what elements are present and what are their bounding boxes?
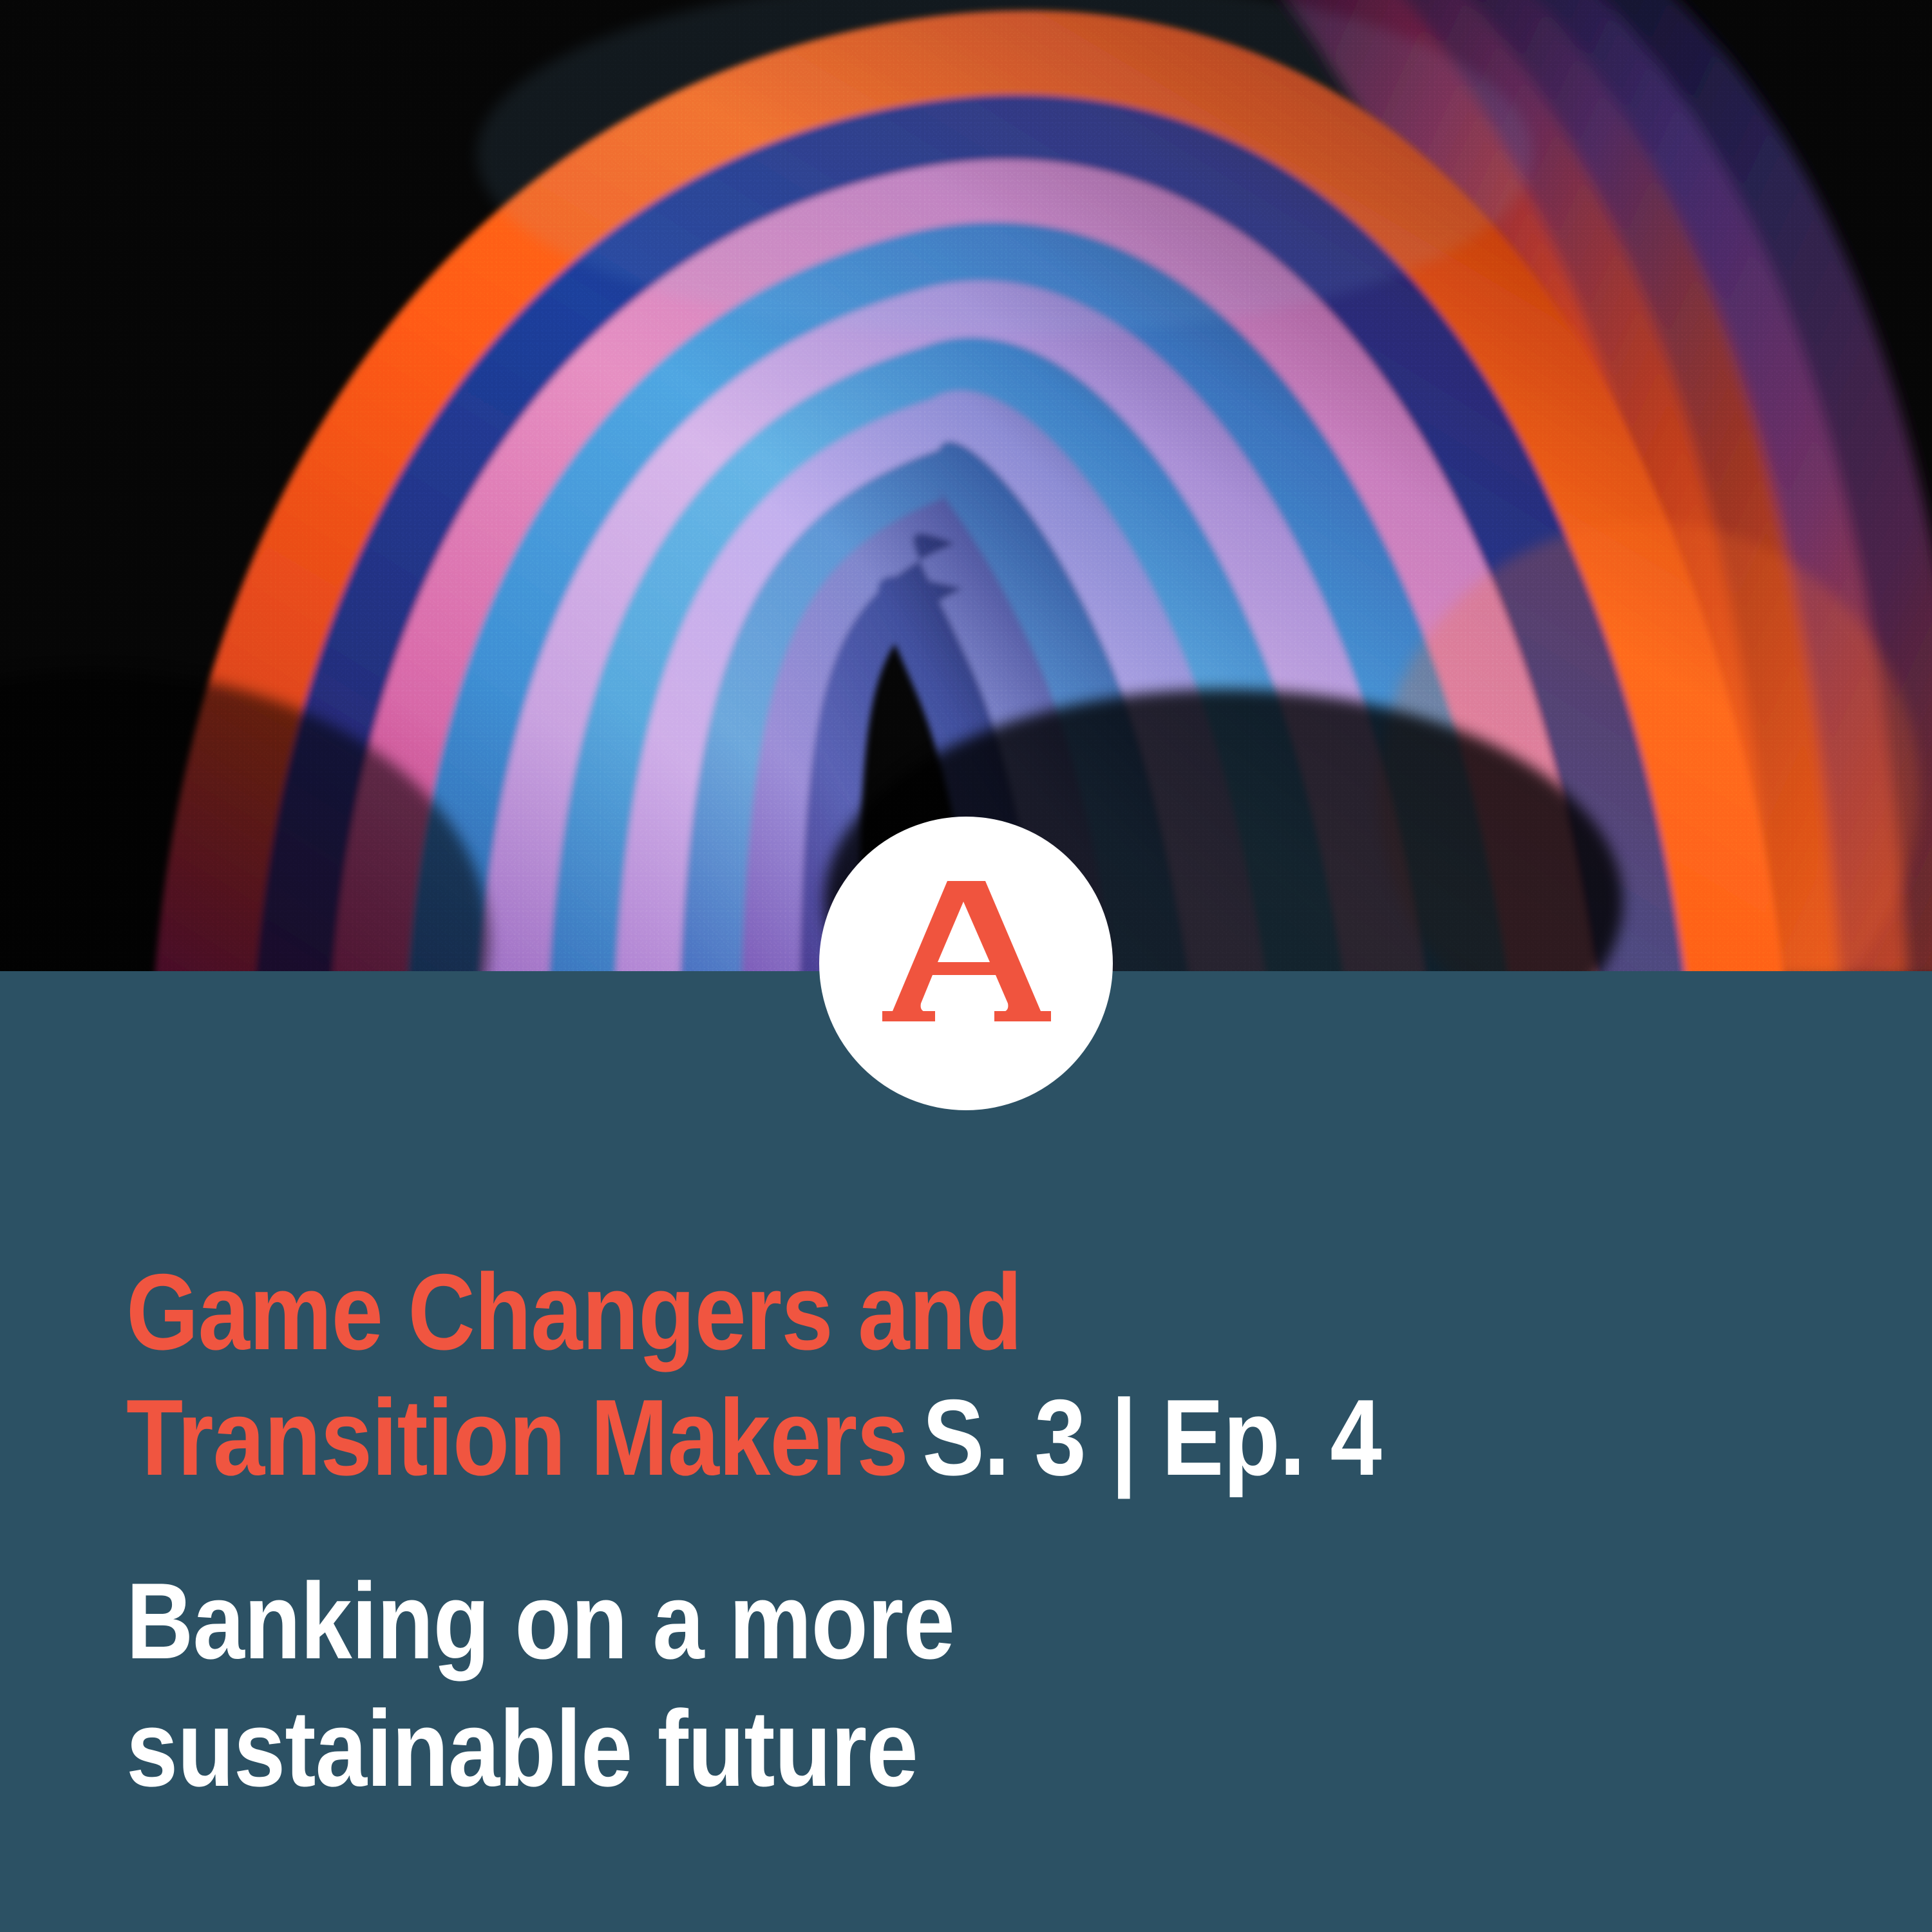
episode-label: S. 3 | Ep. 4 (908, 1377, 1381, 1498)
show-title-line-2: Transition MakersS. 3 | Ep. 4 (126, 1375, 1577, 1501)
episode-text-block: Game Changers and Transition MakersS. 3 … (126, 1249, 1814, 1812)
show-title-line-1: Game Changers and (126, 1249, 1577, 1375)
letter-a-icon (869, 867, 1063, 1060)
show-name-part-2: Transition Makers (126, 1377, 908, 1498)
show-name-part-1: Game Changers and (126, 1251, 1021, 1372)
episode-subtitle: Banking on a more sustainable future (126, 1557, 1577, 1812)
brand-logo-roundel[interactable] (819, 817, 1113, 1110)
podcast-cover-art: Game Changers and Transition MakersS. 3 … (0, 0, 1932, 1932)
episode-subtitle-line-1: Banking on a more (126, 1557, 1577, 1685)
episode-subtitle-line-2: sustainable future (126, 1685, 1577, 1812)
